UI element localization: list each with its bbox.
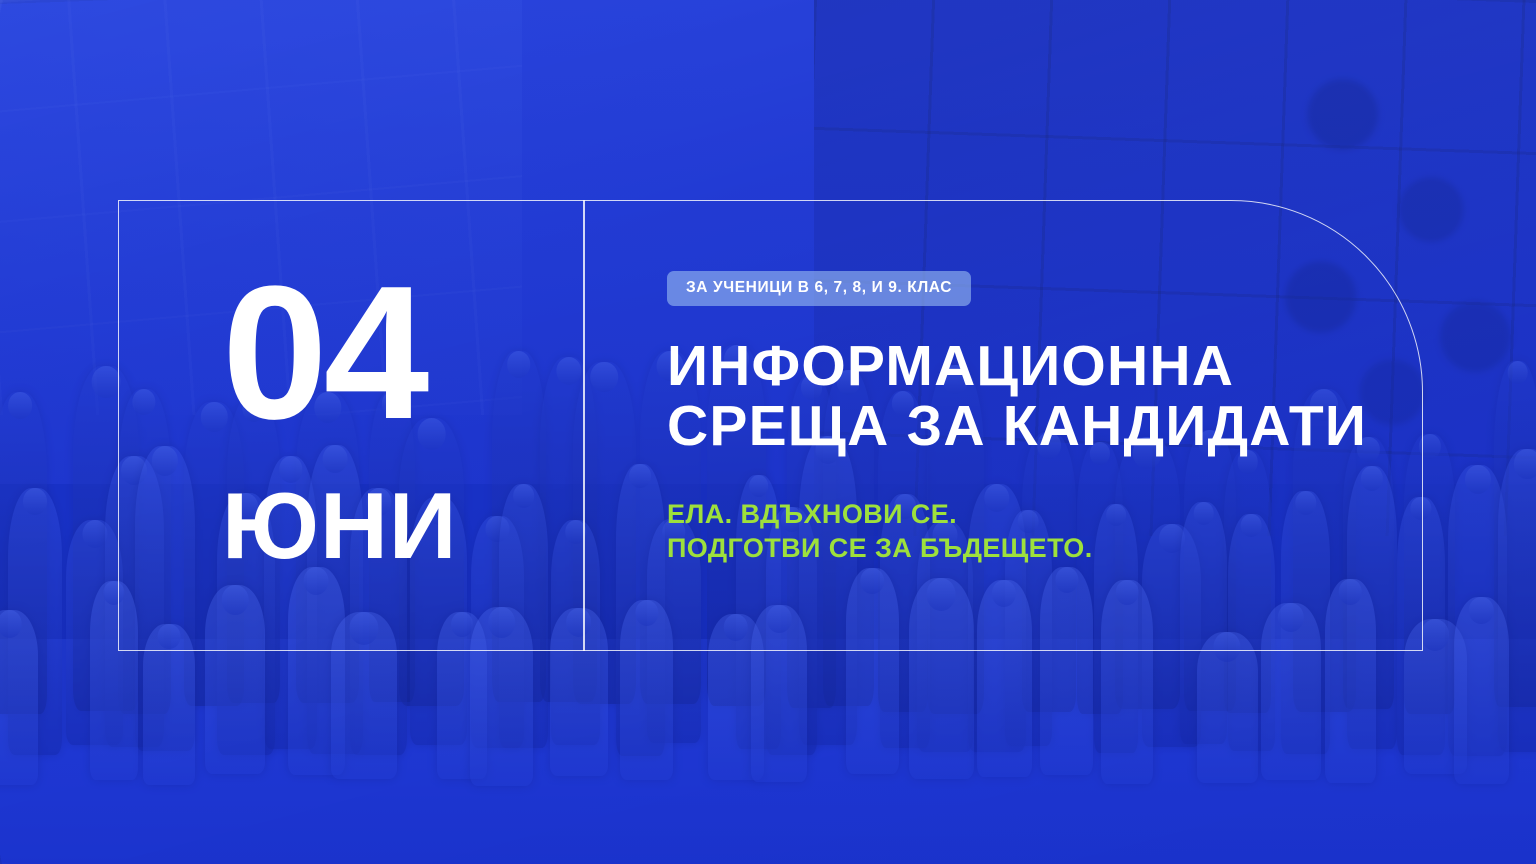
tagline-line-1: ЕЛА. ВДЪХНОВИ СЕ. bbox=[667, 497, 1367, 532]
page-title: ИНФОРМАЦИОННА СРЕЩА ЗА КАНДИДАТИ bbox=[667, 337, 1367, 457]
event-date: 04 ЮНИ bbox=[222, 272, 522, 573]
headline-line-2: СРЕЩА ЗА КАНДИДАТИ bbox=[667, 397, 1367, 457]
date-day: 04 bbox=[222, 272, 522, 435]
content-column: ЗА УЧЕНИЦИ В 6, 7, 8, И 9. КЛАС ИНФОРМАЦ… bbox=[667, 271, 1367, 566]
event-announcement-poster: 04 ЮНИ ЗА УЧЕНИЦИ В 6, 7, 8, И 9. КЛАС И… bbox=[0, 0, 1536, 864]
audience-badge: ЗА УЧЕНИЦИ В 6, 7, 8, И 9. КЛАС bbox=[667, 271, 971, 306]
frame-vertical-divider bbox=[583, 200, 585, 651]
tagline: ЕЛА. ВДЪХНОВИ СЕ. ПОДГОТВИ СЕ ЗА БЪДЕЩЕТ… bbox=[667, 497, 1367, 566]
headline-line-1: ИНФОРМАЦИОННА bbox=[667, 337, 1367, 397]
tagline-line-2: ПОДГОТВИ СЕ ЗА БЪДЕЩЕТО. bbox=[667, 531, 1367, 566]
date-month: ЮНИ bbox=[222, 479, 522, 573]
